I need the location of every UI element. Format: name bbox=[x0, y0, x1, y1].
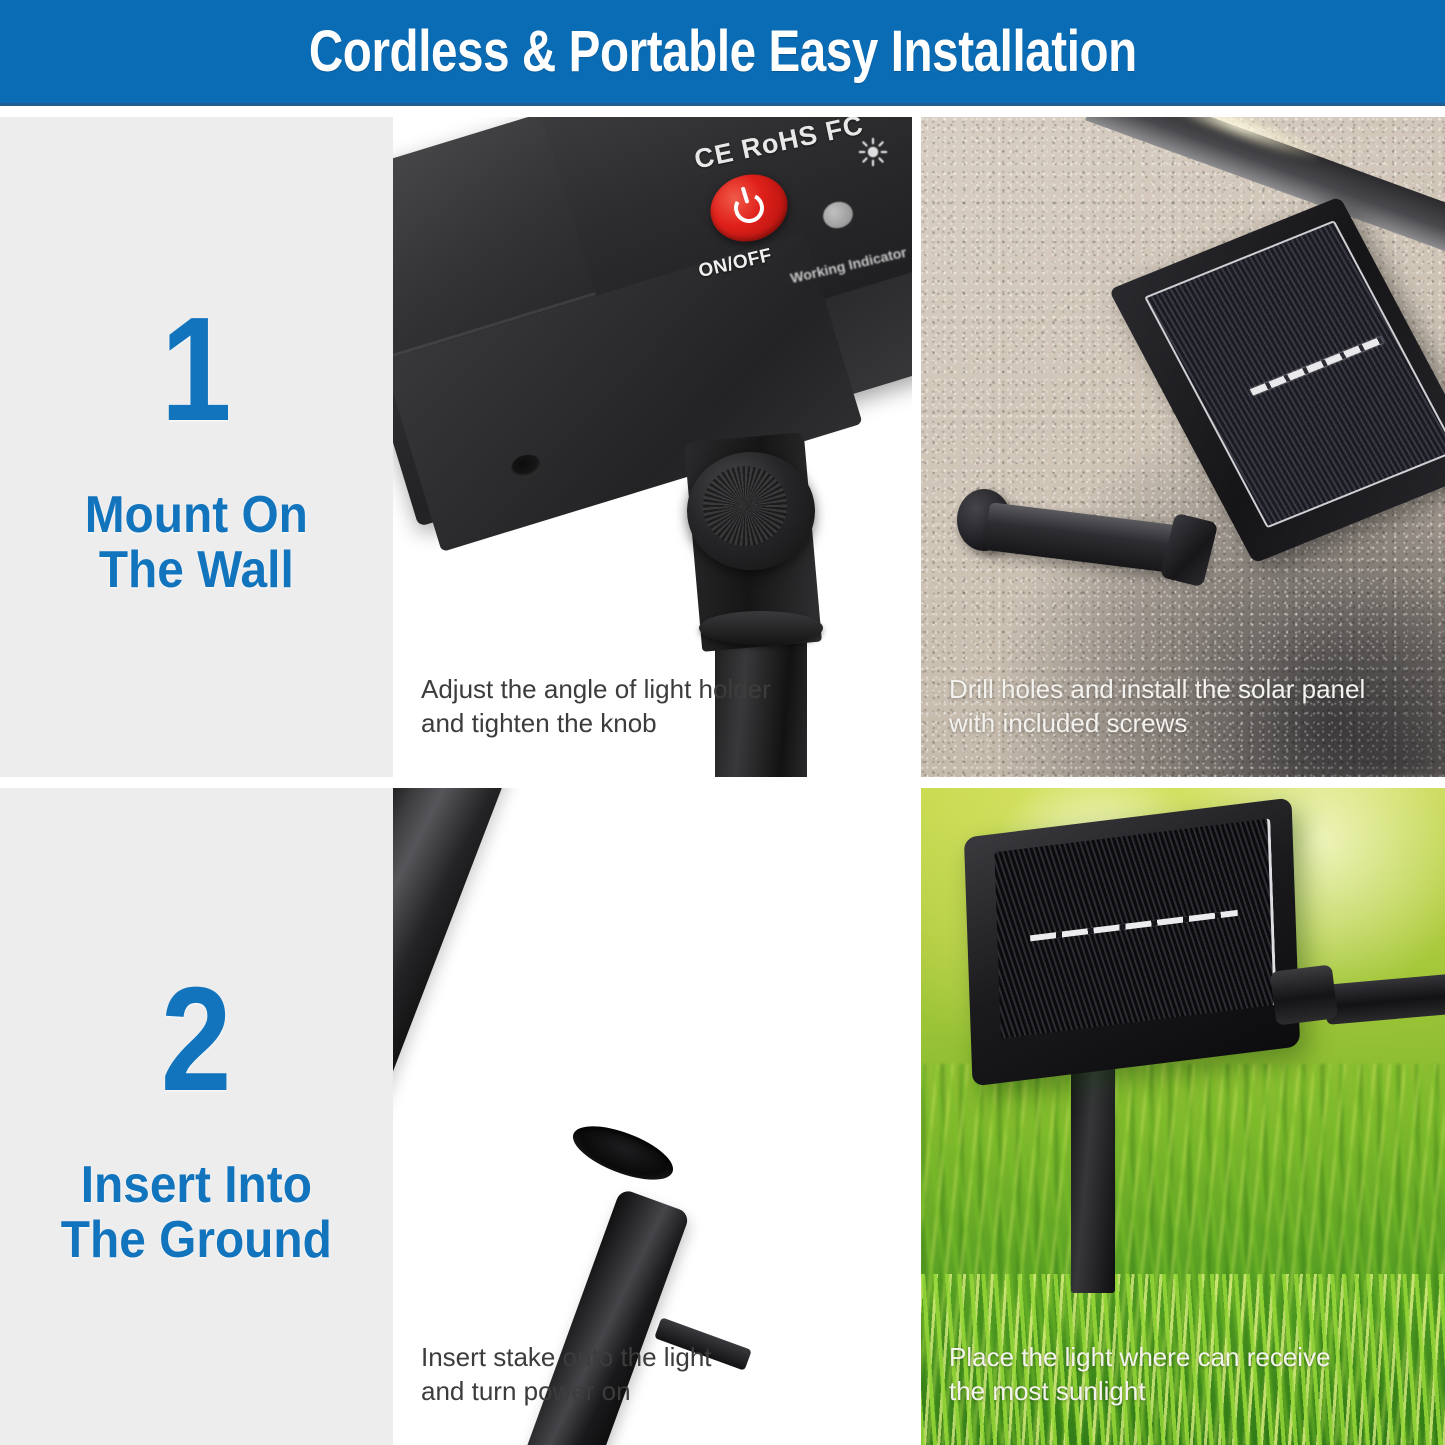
step-2-label-column: 2 Insert Into The Ground bbox=[0, 788, 393, 1445]
photo-ground-stake: Insert stake onto the light and turn pow… bbox=[393, 788, 912, 1445]
step-1-photo-column: CE RoHS FC ON/OFF Working Indicator bbox=[393, 117, 1445, 777]
step-1-number: 1 bbox=[161, 296, 232, 444]
page-title: Cordless & Portable Easy Installation bbox=[309, 18, 1137, 85]
step-1-label-column: 1 Mount On The Wall bbox=[0, 117, 393, 777]
caption-line-1: Place the light where can receive bbox=[949, 1341, 1400, 1375]
caption-drill-holes: Drill holes and install the solar panel … bbox=[949, 673, 1400, 741]
step-2-title: Insert Into The Ground bbox=[61, 1158, 332, 1267]
step-2-photo-column: Insert stake onto the light and turn pow… bbox=[393, 788, 1445, 1445]
step-2-title-line-2: The Ground bbox=[61, 1213, 332, 1268]
caption-insert-stake: Insert stake onto the light and turn pow… bbox=[421, 1341, 867, 1409]
adjustment-knob[interactable] bbox=[687, 452, 815, 570]
infographic-page: Cordless & Portable Easy Installation 1 … bbox=[0, 0, 1445, 1445]
panel-ground-stake bbox=[1071, 1043, 1115, 1293]
sun-icon bbox=[858, 137, 888, 167]
caption-adjust-angle: Adjust the angle of light holder and tig… bbox=[421, 673, 867, 741]
light-pole-tube bbox=[393, 788, 514, 1195]
step-1-title-line-1: Mount On bbox=[85, 488, 308, 543]
solar-cell-surface bbox=[994, 818, 1276, 1038]
pole-collar-ring bbox=[699, 611, 823, 645]
caption-line-2: and tighten the knob bbox=[421, 707, 867, 741]
caption-line-1: Adjust the angle of light holder bbox=[421, 673, 867, 707]
solar-panel-housing bbox=[964, 797, 1300, 1086]
step-2-number: 2 bbox=[161, 966, 232, 1114]
step-1-title: Mount On The Wall bbox=[85, 488, 308, 597]
cable-connector bbox=[1270, 964, 1338, 1025]
step-2-title-line-1: Insert Into bbox=[61, 1158, 332, 1213]
caption-line-1: Insert stake onto the light bbox=[421, 1341, 867, 1375]
pole-open-end bbox=[566, 1115, 679, 1190]
solar-busbar bbox=[1030, 910, 1238, 941]
step-row-1: 1 Mount On The Wall CE RoHS FC ON/OFF Wo… bbox=[0, 117, 1445, 777]
header-banner: Cordless & Portable Easy Installation bbox=[0, 0, 1445, 106]
caption-line-1: Drill holes and install the solar panel bbox=[949, 673, 1400, 707]
solar-busbar bbox=[1250, 336, 1384, 395]
photo-wall-mount: Drill holes and install the solar panel … bbox=[921, 117, 1445, 777]
power-cable bbox=[1324, 971, 1445, 1025]
step-row-2: 2 Insert Into The Ground Insert stake on… bbox=[0, 788, 1445, 1445]
caption-place-light: Place the light where can receive the mo… bbox=[949, 1341, 1400, 1409]
power-icon bbox=[730, 189, 767, 226]
caption-line-2: with included screws bbox=[949, 707, 1400, 741]
caption-line-2: and turn power on bbox=[421, 1375, 867, 1409]
caption-line-2: the most sunlight bbox=[949, 1375, 1400, 1409]
photo-grass-placement: Place the light where can receive the mo… bbox=[921, 788, 1445, 1445]
photo-light-fixture: CE RoHS FC ON/OFF Working Indicator bbox=[393, 117, 912, 777]
step-1-title-line-2: The Wall bbox=[85, 543, 308, 598]
